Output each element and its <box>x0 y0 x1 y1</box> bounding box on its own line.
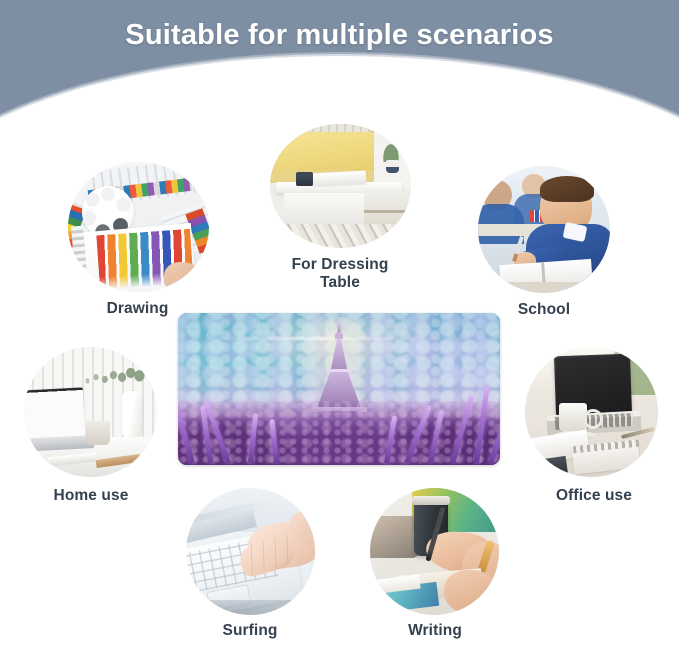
dressing-table-drawer <box>284 193 364 227</box>
product-mousepad-image <box>178 313 500 465</box>
scenario-photo-surfing <box>186 488 315 615</box>
page-title: Suitable for multiple scenarios <box>0 19 679 52</box>
dressing-label-line1: For Dressing <box>249 256 431 274</box>
scenario-label-surfing: Surfing <box>170 622 330 640</box>
desk-surface <box>478 282 610 293</box>
tabletop-cup <box>296 172 313 186</box>
scenario-photo-dressing-table <box>270 124 411 248</box>
dark-desk-shadow <box>186 600 315 615</box>
tower-upper-section <box>331 338 348 371</box>
potted-plant <box>382 142 400 162</box>
laptop-screen <box>24 387 85 440</box>
scenario-photo-school <box>478 166 610 293</box>
patterned-rug <box>270 224 411 248</box>
shelf-divider <box>364 210 408 213</box>
scenario-label-dressing-table: For Dressing Table <box>249 256 431 292</box>
scenario-label-writing: Writing <box>355 622 515 640</box>
tall-vase <box>122 391 142 441</box>
coffee-cup-lid <box>412 496 450 505</box>
scenario-label-home-use: Home use <box>5 487 177 505</box>
tower-observation-knob <box>335 332 343 339</box>
blurred-foreground-left <box>370 516 420 558</box>
dressing-label-line2: Table <box>249 274 431 292</box>
scenario-photo-office-use <box>525 347 658 477</box>
scenario-photo-home-use <box>24 347 157 477</box>
scenario-label-office-use: Office use <box>508 487 679 505</box>
plant-pot <box>386 160 399 173</box>
student-hair <box>540 176 594 202</box>
ceramic-cup <box>86 421 110 445</box>
scenario-photo-writing <box>370 488 499 615</box>
infographic-canvas: Suitable for multiple scenarios Drawing <box>0 0 679 646</box>
scenario-photo-drawing <box>68 162 209 292</box>
hand-resting <box>444 570 496 614</box>
coffee-mug-handle <box>583 409 603 429</box>
